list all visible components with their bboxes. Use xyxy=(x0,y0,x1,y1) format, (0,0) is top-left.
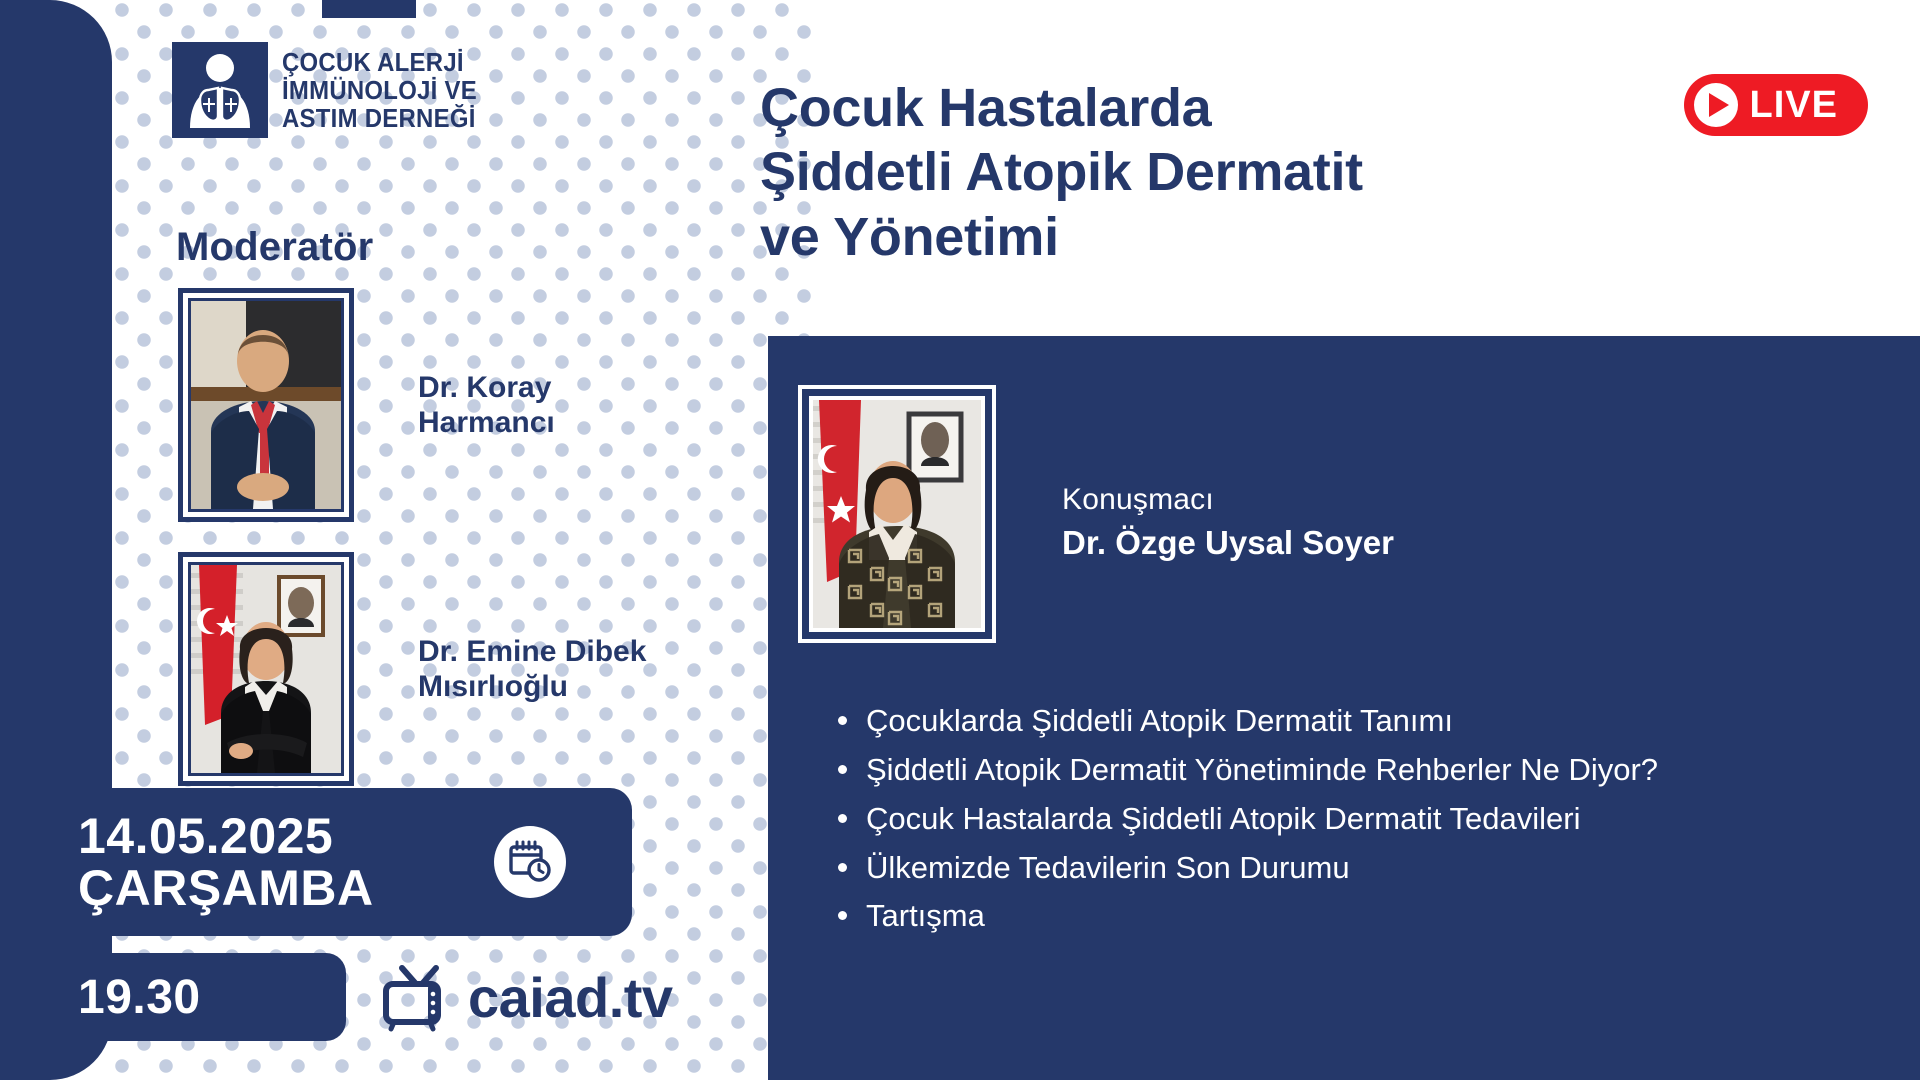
moderator-1-photo-frame xyxy=(178,288,354,522)
top-accent-tab xyxy=(322,0,416,18)
moderator-2: Dr. Emine Dibek Mısırlıoğlu xyxy=(178,552,646,786)
organization-logo: ÇOCUK ALERJİ İMMÜNOLOJİ VE ASTIM DERNEĞİ xyxy=(172,42,494,138)
moderator-1-name: Dr. Koray Harmancı xyxy=(418,370,555,441)
topic-list: Çocuklarda Şiddetli Atopik Dermatit Tanı… xyxy=(830,700,1890,944)
organization-name: ÇOCUK ALERJİ İMMÜNOLOJİ VE ASTIM DERNEĞİ xyxy=(282,48,477,132)
play-icon xyxy=(1694,83,1738,127)
topic-item: Tartışma xyxy=(830,895,1890,937)
speaker-role-label: Konuşmacı xyxy=(1062,482,1394,518)
webinar-poster: ÇOCUK ALERJİ İMMÜNOLOJİ VE ASTIM DERNEĞİ… xyxy=(0,0,1920,1080)
portrait-woman-black-jacket-flag xyxy=(188,562,344,776)
channel-link[interactable]: caiad.tv xyxy=(382,962,673,1032)
portrait-woman-patterned-jacket-flag xyxy=(809,396,985,632)
person-with-lungs-icon xyxy=(172,42,268,138)
topic-item: Şiddetli Atopik Dermatit Yönetiminde Reh… xyxy=(830,749,1890,791)
speaker-name: Dr. Özge Uysal Soyer xyxy=(1062,522,1394,563)
calendar-clock-icon xyxy=(494,826,566,898)
moderator-2-name: Dr. Emine Dibek Mısırlıoğlu xyxy=(418,634,646,705)
date-badge: 14.05.2025 ÇARŞAMBA xyxy=(0,788,632,936)
topic-item: Çocuklarda Şiddetli Atopik Dermatit Tanı… xyxy=(830,700,1890,742)
live-badge[interactable]: LIVE xyxy=(1684,74,1868,136)
event-date: 14.05.2025 ÇARŞAMBA xyxy=(78,810,374,915)
speaker-photo-frame xyxy=(798,385,996,643)
portrait-man-suit-red-tie xyxy=(188,298,344,512)
time-badge: 19.30 xyxy=(0,953,346,1041)
speaker-info: Konuşmacı Dr. Özge Uysal Soyer xyxy=(1062,482,1394,563)
tv-icon xyxy=(382,962,458,1032)
event-time: 19.30 xyxy=(78,970,201,1025)
topic-item: Çocuk Hastalarda Şiddetli Atopik Dermati… xyxy=(830,798,1890,840)
moderator-1: Dr. Koray Harmancı xyxy=(178,288,555,522)
channel-name: caiad.tv xyxy=(468,965,673,1030)
live-label: LIVE xyxy=(1750,84,1838,127)
topic-item: Ülkemizde Tedavilerin Son Durumu xyxy=(830,847,1890,889)
page-title: Çocuk Hastalarda Şiddetli Atopik Dermati… xyxy=(760,76,1600,269)
moderator-label: Moderatör xyxy=(176,225,373,270)
moderator-2-photo-frame xyxy=(178,552,354,786)
